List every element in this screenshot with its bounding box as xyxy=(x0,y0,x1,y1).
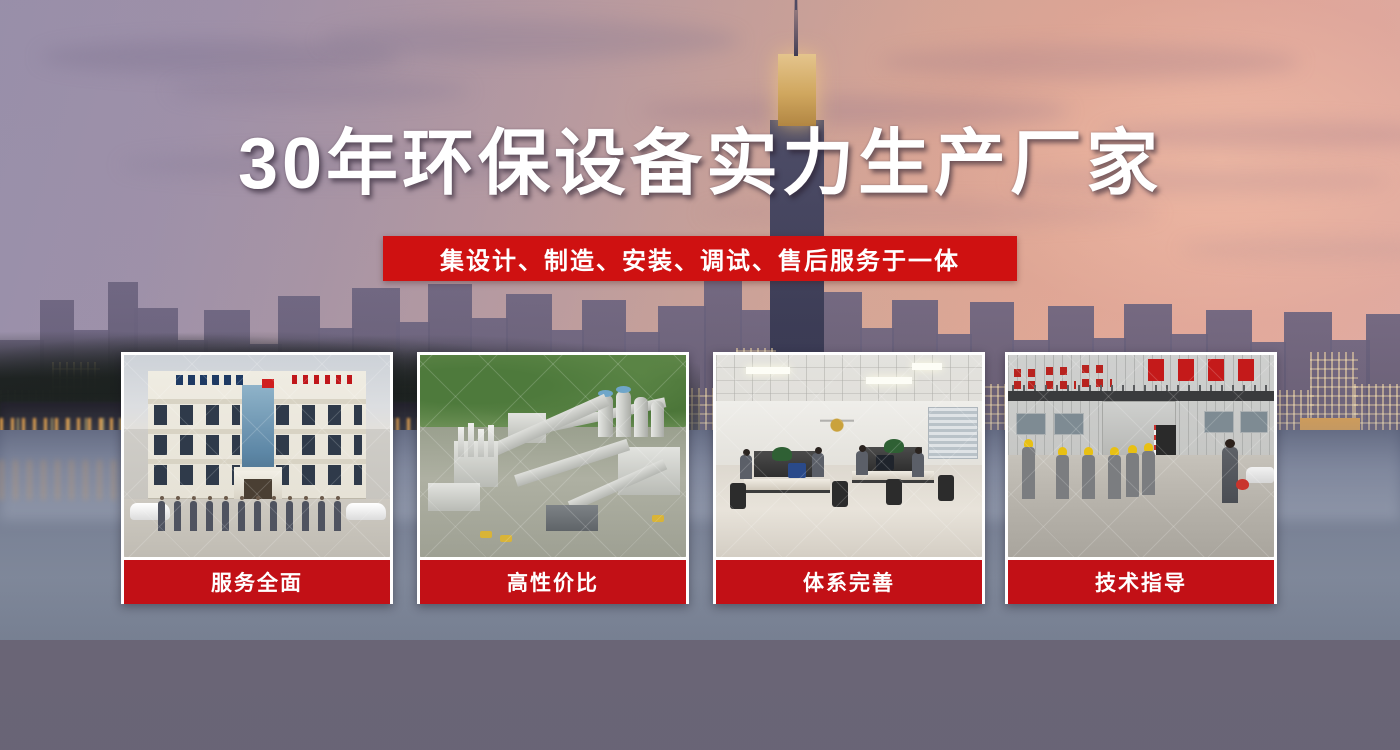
tower-crown-light xyxy=(778,54,816,126)
feature-card-list: 服务全面 高性价比 xyxy=(121,352,1277,604)
company-sign xyxy=(176,375,244,385)
promo-banner: 30年环保设备实力生产厂家 集设计、制造、安装、调试、售后服务于一体 xyxy=(0,0,1400,750)
car xyxy=(346,503,386,520)
window-blinds xyxy=(928,407,978,459)
office-interior-photo xyxy=(716,355,982,557)
supervisor xyxy=(1222,447,1238,503)
feature-card[interactable]: 体系完善 xyxy=(713,352,985,604)
tower-tip xyxy=(795,0,797,10)
card-caption-bar: 体系完善 xyxy=(716,560,982,604)
card-caption-text: 服务全面 xyxy=(211,567,303,597)
subtitle-text: 集设计、制造、安装、调试、售后服务于一体 xyxy=(440,241,960,276)
feature-card[interactable]: 服务全面 xyxy=(121,352,393,604)
card-caption-text: 体系完善 xyxy=(803,567,895,597)
flag-icon xyxy=(262,379,274,388)
aerial-plant-photo xyxy=(420,355,686,557)
card-caption-bar: 服务全面 xyxy=(124,560,390,604)
card-caption-text: 技术指导 xyxy=(1095,567,1187,597)
phone-number-sign xyxy=(292,375,354,384)
card-caption-text: 高性价比 xyxy=(507,567,599,597)
wall-decal xyxy=(820,409,854,435)
red-helmet-icon xyxy=(1236,479,1249,490)
factory-slogan-sign xyxy=(1148,359,1268,381)
card-caption-bar: 高性价比 xyxy=(420,560,686,604)
feature-card[interactable]: 技术指导 xyxy=(1005,352,1277,604)
feature-card[interactable]: 高性价比 xyxy=(417,352,689,604)
card-caption-bar: 技术指导 xyxy=(1008,560,1274,604)
page-title: 30年环保设备实力生产厂家 xyxy=(0,128,1400,200)
car xyxy=(1246,467,1274,483)
workers-training-photo xyxy=(1008,355,1274,557)
office-building-staff-photo xyxy=(124,355,390,557)
subtitle-ribbon: 集设计、制造、安装、调试、售后服务于一体 xyxy=(383,236,1017,281)
